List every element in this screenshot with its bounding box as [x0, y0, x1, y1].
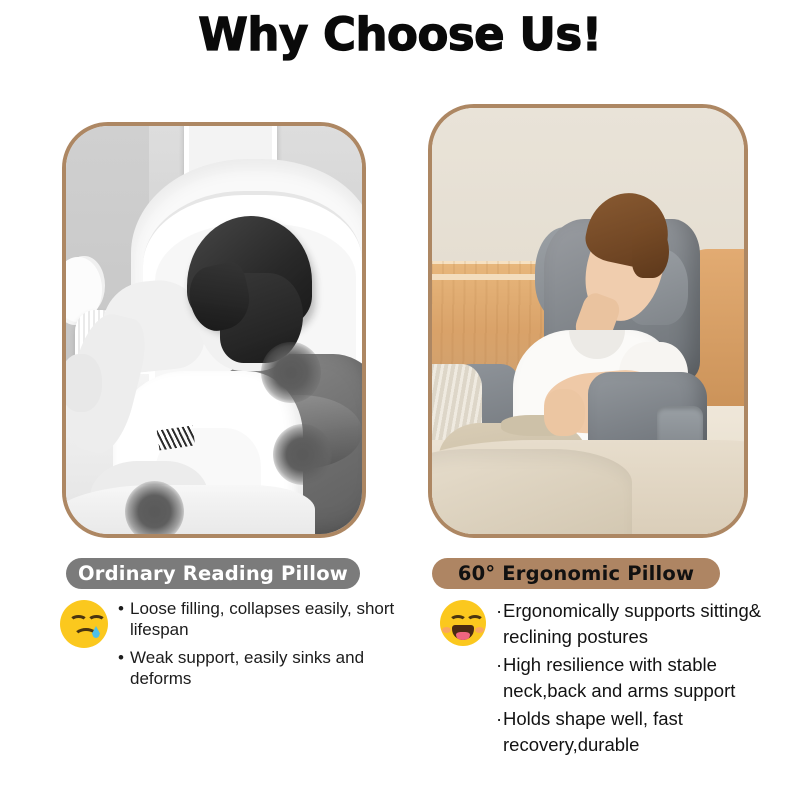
ergonomic-pillow-badge: 60° Ergonomic Pillow [432, 558, 720, 589]
bullet-marker: · [496, 652, 503, 678]
duvet [432, 449, 632, 534]
drawback-list: • Loose filling, collapses easily, short… [118, 598, 400, 696]
bullet-text: Holds shape well, fast recovery,durable [503, 706, 780, 758]
ergonomic-pillow-benefits: · Ergonomically supports sitting& reclin… [440, 598, 780, 760]
emoji-blush-right [475, 627, 484, 633]
pain-point-mid-back-icon [273, 424, 332, 485]
bullet-text: Loose filling, collapses easily, short l… [130, 598, 400, 640]
ergonomic-pillow-photo-panel [428, 104, 748, 538]
list-item: • Weak support, easily sinks and deforms [118, 647, 400, 689]
bullet-text: Ergonomically supports sitting& reclinin… [503, 598, 780, 650]
ordinary-pillow-photo-panel [62, 122, 366, 538]
page-title: Why Choose Us! [0, 8, 800, 61]
ordinary-pillow-drawbacks: • Loose filling, collapses easily, short… [60, 598, 400, 696]
bullet-marker: · [496, 598, 503, 624]
happy-smiling-face-icon [440, 600, 486, 646]
emoji-tongue [456, 632, 470, 640]
list-item: • Loose filling, collapses easily, short… [118, 598, 400, 640]
comparison-infographic: Why Choose Us! [0, 0, 800, 800]
emoji-eye-right [87, 615, 106, 629]
ordinary-pillow-badge: Ordinary Reading Pillow [66, 558, 360, 589]
ordinary-pillow-badge-label: Ordinary Reading Pillow [78, 562, 348, 585]
list-item: · High resilience with stable neck,back … [496, 652, 780, 704]
emoji-eye-left [69, 615, 88, 629]
emoji-blush-left [442, 627, 451, 633]
list-item: · Holds shape well, fast recovery,durabl… [496, 706, 780, 758]
benefit-list: · Ergonomically supports sitting& reclin… [496, 598, 780, 760]
ordinary-pillow-photo [66, 126, 362, 534]
bullet-text: Weak support, easily sinks and deforms [130, 647, 400, 689]
bullet-text: High resilience with stable neck,back an… [503, 652, 780, 704]
person-hand [544, 389, 585, 436]
list-item: · Ergonomically supports sitting& reclin… [496, 598, 780, 650]
bullet-marker: • [118, 647, 130, 668]
person-hair-side [632, 223, 669, 278]
ergonomic-pillow-badge-label: 60° Ergonomic Pillow [458, 562, 694, 585]
sad-crying-face-icon [60, 600, 108, 648]
blanket [66, 485, 315, 534]
pain-point-neck-shoulder-icon [261, 342, 320, 403]
bullet-marker: • [118, 598, 130, 619]
bullet-marker: · [496, 706, 503, 732]
person-hand [66, 354, 102, 411]
ergonomic-pillow-photo [432, 108, 744, 534]
